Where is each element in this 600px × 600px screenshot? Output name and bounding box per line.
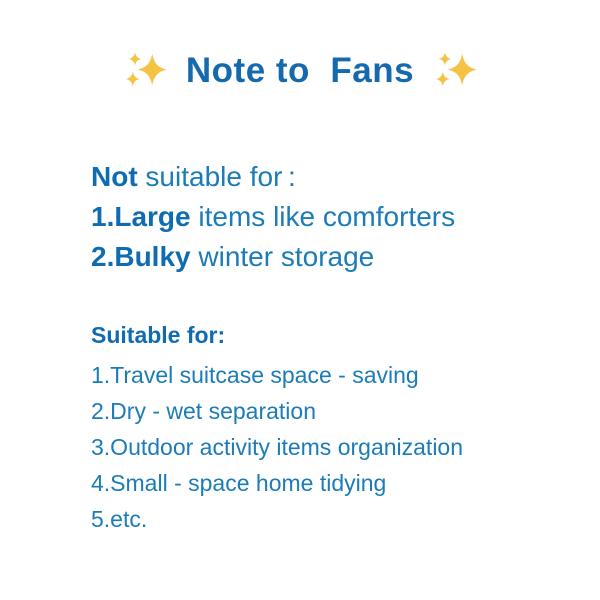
not-suitable-item-1: 1.Large items like comforters xyxy=(91,197,561,237)
note-poster: Note to Fans Not suitable for : 1.Large … xyxy=(0,0,600,600)
not-suitable-item-1-rest: items like comforters xyxy=(191,201,456,232)
not-suitable-heading-bold: Not xyxy=(91,161,138,192)
suitable-item-1: 1.Travel suitcase space - saving xyxy=(91,357,561,393)
suitable-item-4: 4.Small - space home tidying xyxy=(91,465,561,501)
suitable-item-3: 3.Outdoor activity items organization xyxy=(91,429,561,465)
sparkles-icon-right xyxy=(432,48,478,94)
suitable-item-2: 2.Dry - wet separation xyxy=(91,393,561,429)
not-suitable-section: Not suitable for : 1.Large items like co… xyxy=(91,158,561,277)
suitable-item-5: 5.etc. xyxy=(91,501,561,537)
suitable-heading: Suitable for: xyxy=(91,319,561,352)
not-suitable-item-2-bold: 2.Bulky xyxy=(91,241,191,272)
page-title: Note to Fans xyxy=(186,52,414,91)
note-body: Not suitable for : 1.Large items like co… xyxy=(91,158,561,538)
not-suitable-item-2-rest: winter storage xyxy=(191,241,375,272)
suitable-section: Suitable for: 1.Travel suitcase space - … xyxy=(91,319,561,538)
sparkles-icon-left xyxy=(122,48,168,94)
not-suitable-item-1-bold: 1.Large xyxy=(91,201,191,232)
not-suitable-heading-rest: suitable for : xyxy=(138,161,296,192)
not-suitable-item-2: 2.Bulky winter storage xyxy=(91,237,561,277)
not-suitable-heading: Not suitable for : xyxy=(91,158,561,197)
page-title-row: Note to Fans xyxy=(0,48,600,94)
